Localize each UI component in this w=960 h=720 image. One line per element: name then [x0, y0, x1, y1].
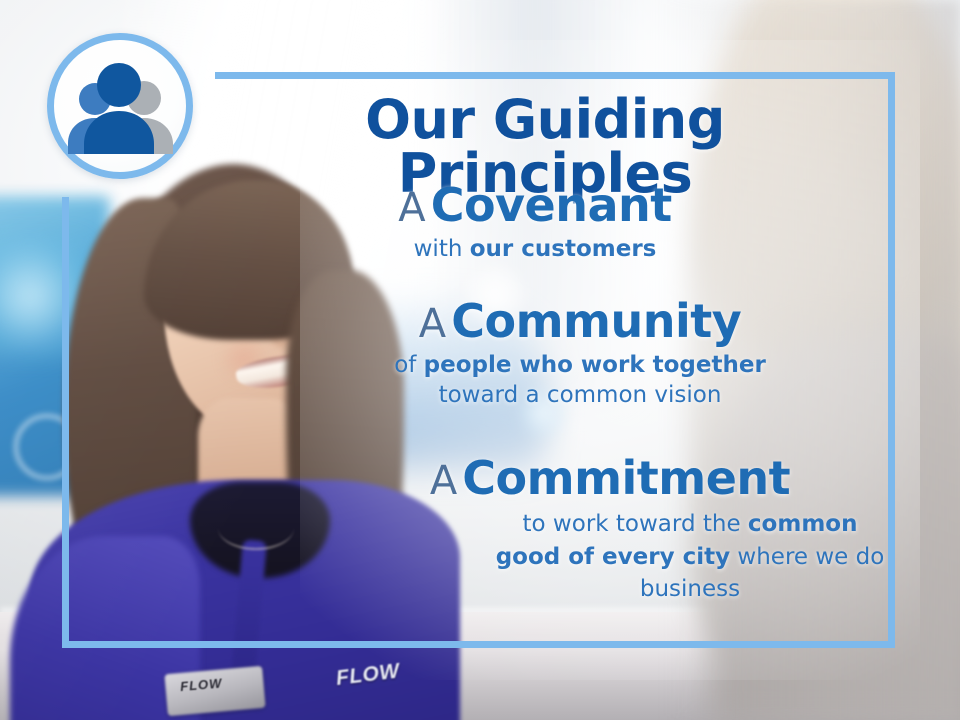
principle-article: A: [419, 301, 446, 347]
principle-subtext: to work toward the common good of every …: [490, 508, 890, 606]
subtext-part: toward a common vision: [439, 382, 722, 408]
principle-commitment: A Commitment to work toward the common g…: [330, 455, 890, 606]
decorative-frame-bottom-left-edge: [62, 641, 222, 648]
principle-word: Commitment: [462, 451, 790, 505]
principle-subtext: of people who work together toward a com…: [290, 351, 870, 411]
promotional-graphic: FLOW FLOW Our Guiding Principles: [0, 0, 960, 720]
principle-subtext: with our customers: [255, 235, 815, 265]
subtext-part-bold: people who work together: [424, 352, 766, 378]
principle-article: A: [398, 185, 425, 231]
subtext-part: of: [394, 352, 423, 378]
people-group-icon: [47, 33, 193, 179]
principle-community: A Community of people who work together …: [290, 298, 870, 411]
decorative-frame-left-edge: [62, 197, 69, 648]
principle-heading: A Covenant: [255, 182, 815, 229]
principle-heading: A Commitment: [330, 455, 890, 502]
principle-word: Covenant: [431, 178, 672, 232]
principle-word: Community: [451, 294, 741, 348]
principle-covenant: A Covenant with our customers: [255, 182, 815, 265]
subtext-part-bold: our customers: [470, 236, 657, 262]
principle-article: A: [430, 458, 457, 504]
subtext-part: with: [414, 236, 470, 262]
subtext-part: to work toward the: [523, 511, 748, 537]
principle-heading: A Community: [290, 298, 870, 345]
